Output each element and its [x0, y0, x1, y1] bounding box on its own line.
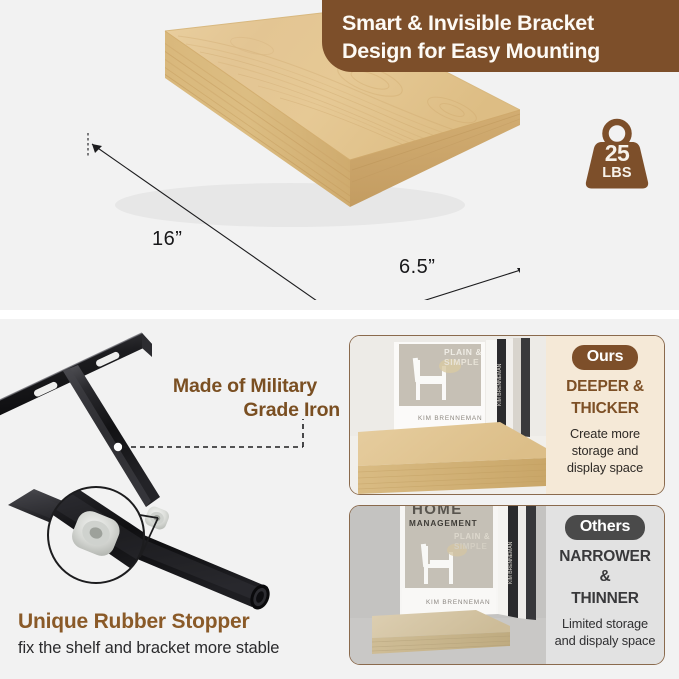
svg-text:KIM BRENNEMAN: KIM BRENNEMAN [418, 415, 482, 422]
comparison-photo-ours: PLAIN & SIMPLE KIM BRENNEMAN KIM BRENNEM… [350, 336, 546, 494]
military-grade-heading: Made of Military Grade Iron [150, 374, 340, 422]
shelf-thick [358, 422, 546, 494]
svg-text:SIMPLE: SIMPLE [454, 542, 487, 551]
header-title-line1: Smart & Invisible Bracket [342, 9, 665, 37]
svg-text:KIM BRENNEMAN: KIM BRENNEMAN [497, 363, 503, 406]
comparison-photo-others: HOME MANAGEMENT PLAIN & SIMPLE [350, 506, 546, 664]
bottom-panel: Made of Military Grade Iron Unique Rubbe… [0, 319, 679, 679]
comparison-card-others: HOME MANAGEMENT PLAIN & SIMPLE [349, 505, 665, 665]
svg-text:KIM BRENNEMAN: KIM BRENNEMAN [508, 541, 514, 584]
military-heading-line2: Grade Iron [150, 398, 340, 422]
weight-value: 25 [578, 142, 656, 165]
svg-text:PLAIN &: PLAIN & [444, 347, 482, 357]
callout-dot [114, 443, 122, 451]
svg-text:PLAIN &: PLAIN & [454, 532, 490, 541]
description-ours: Create more storage and display space [552, 425, 658, 476]
header-title-line2: Design for Easy Mounting [342, 37, 665, 65]
dimension-label-length: 16” [152, 228, 182, 251]
stopper-title: Unique Rubber Stopper [18, 609, 348, 635]
top-panel: 16” 6.5” Smart & Invisible Bracket Desig… [0, 0, 679, 310]
header-banner: Smart & Invisible Bracket Design for Eas… [322, 0, 679, 72]
military-heading-line1: Made of Military [173, 375, 317, 397]
headline-others-line2: THINNER [552, 589, 658, 609]
bracket-support-rod [63, 365, 160, 507]
svg-text:HOME: HOME [412, 506, 463, 518]
rubber-stopper-caption: Unique Rubber Stopper fix the shelf and … [18, 609, 348, 659]
headline-ours-line1: DEEPER & [552, 377, 658, 397]
svg-text:SIMPLE: SIMPLE [444, 357, 479, 367]
callout-dashed-line [122, 419, 303, 447]
svg-text:MANAGEMENT: MANAGEMENT [409, 519, 478, 528]
weight-capacity-badge: 25 LBS [578, 116, 656, 194]
bracket-illustration [0, 319, 345, 619]
svg-text:KIM BRENNEMAN: KIM BRENNEMAN [426, 599, 490, 606]
badge-ours: Ours [572, 345, 639, 370]
headline-ours-line2: THICKER [552, 399, 658, 419]
books-upright: KIM BRENNEMAN [498, 506, 536, 620]
comparison-card-ours: PLAIN & SIMPLE KIM BRENNEMAN KIM BRENNEM… [349, 335, 665, 495]
description-others: Limited storage and dispaly space [552, 615, 658, 649]
stopper-subtitle: fix the shelf and bracket more stable [18, 638, 348, 659]
book-front: HOME MANAGEMENT PLAIN & SIMPLE [400, 506, 498, 618]
comparison-info-ours: Ours DEEPER & THICKER Create more storag… [546, 336, 664, 494]
badge-others: Others [565, 515, 645, 540]
panel-divider [0, 310, 679, 319]
comparison-info-others: Others NARROWER & THINNER Limited storag… [546, 506, 664, 664]
weight-unit: LBS [578, 166, 656, 181]
dimension-label-depth: 6.5” [399, 256, 435, 279]
magnifier-detail-circle [18, 469, 196, 597]
books-upright: KIM BRENNEMAN [486, 338, 530, 437]
book-front: PLAIN & SIMPLE KIM BRENNEMAN [394, 342, 485, 432]
headline-others-line1: NARROWER & [552, 547, 658, 587]
product-infographic-poster: 16” 6.5” Smart & Invisible Bracket Desig… [0, 0, 679, 679]
